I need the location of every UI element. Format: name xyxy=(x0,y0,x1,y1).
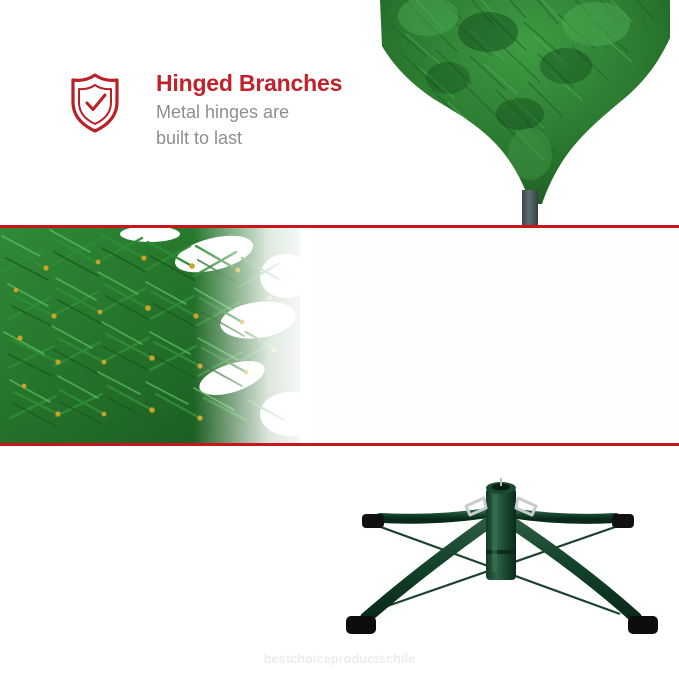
feature-panel-hinged-branches: Hinged Branches Metal hinges are built t… xyxy=(0,0,679,225)
product-feature-infographic: Hinged Branches Metal hinges are built t… xyxy=(0,0,679,679)
pvc-needle-closeup-photo xyxy=(0,228,312,443)
feature-description-hinged-branches: Metal hinges are built to last xyxy=(156,100,342,151)
feature-title-hinged-branches: Hinged Branches xyxy=(156,70,342,96)
feature-panel-sturdy-base: Sturdy Base A reliable metal stand for y… xyxy=(0,446,679,679)
watermark-text: bestchoiceproductschile xyxy=(0,652,679,666)
divider-rule-top xyxy=(0,225,679,228)
feature-panel-pvc-tips: PVC Tips Flame-retardant and easy to flu… xyxy=(0,228,679,443)
tree-pole xyxy=(522,190,538,225)
metal-tree-stand-photo xyxy=(318,468,679,648)
feature-text-hinged-branches: Hinged Branches Metal hinges are built t… xyxy=(156,70,342,152)
shield-check-icon xyxy=(68,72,122,134)
check-mark xyxy=(87,95,105,110)
christmas-tree-branch-photo xyxy=(370,0,679,225)
divider-rule-bottom xyxy=(0,443,679,446)
